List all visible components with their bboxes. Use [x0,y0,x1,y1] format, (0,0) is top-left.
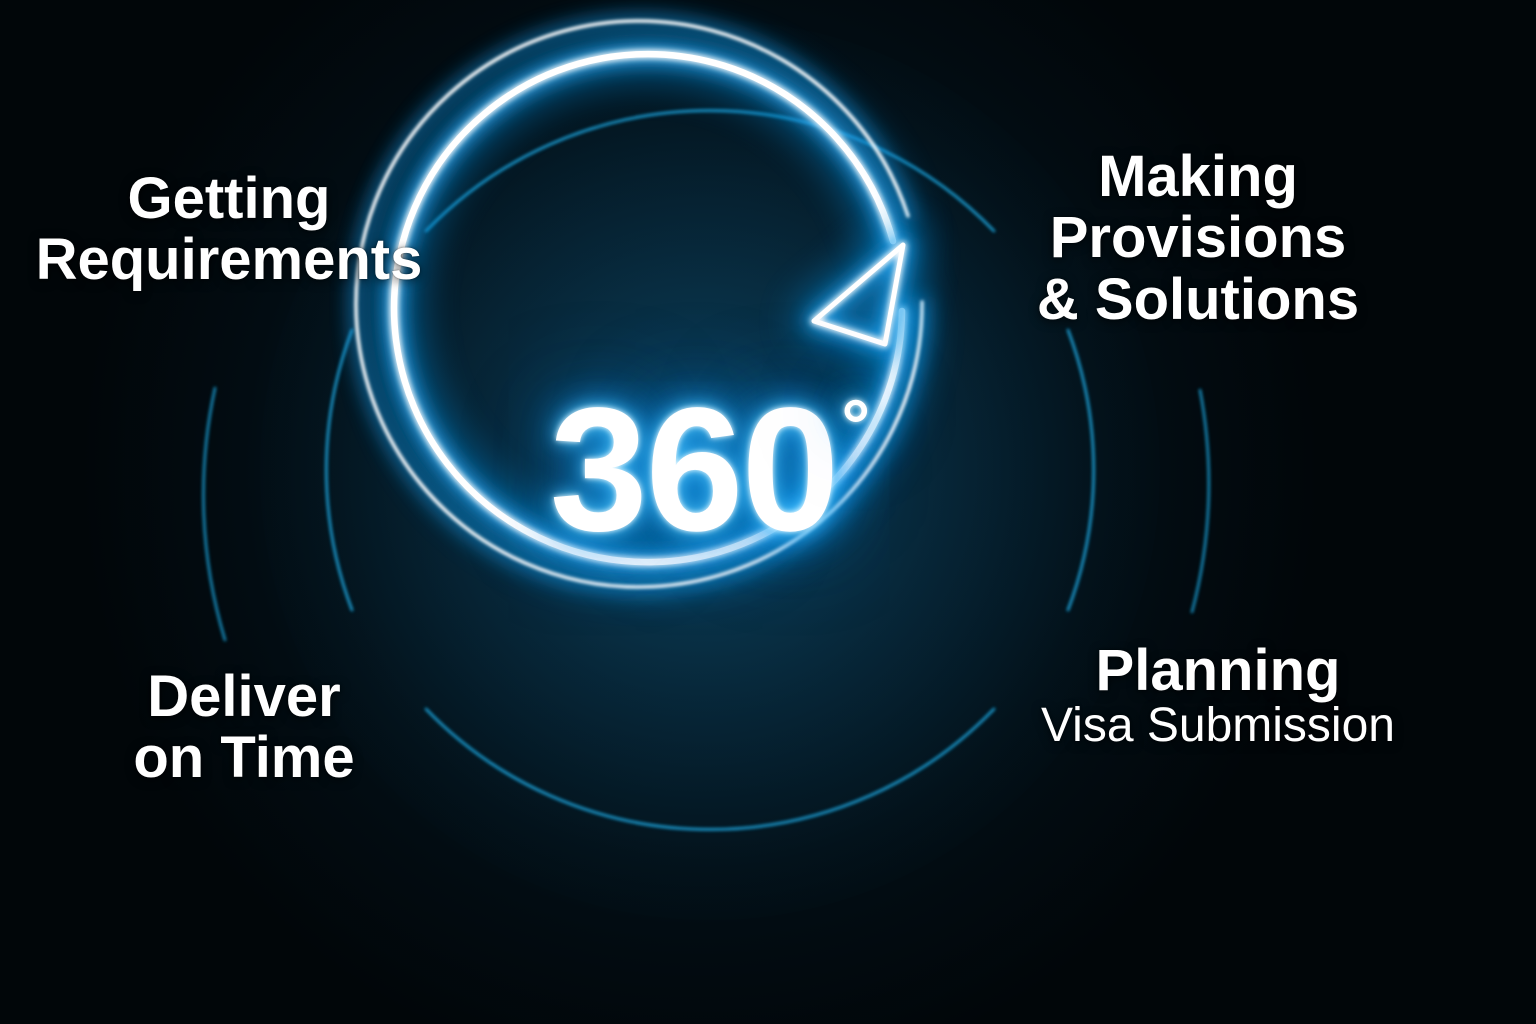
center-number: 360 [550,382,838,558]
outer-arc-left [326,330,352,610]
label-deliver-on-time: Deliver on Time [104,666,384,789]
mid-arc-left [203,388,225,640]
label-getting-requirements: Getting Requirements [14,168,444,291]
label-making-line2: Provisions [1008,207,1388,268]
label-making-line3: & Solutions [1008,269,1388,330]
outer-arc-right [1068,330,1094,610]
degree-symbol: ° [841,390,870,462]
label-getting-requirements-line2: Requirements [14,229,444,290]
label-making-provisions-solutions: Making Provisions & Solutions [1008,146,1388,330]
label-planning-visa-submission: Planning Visa Submission [1018,640,1418,752]
infographic-canvas: 360 ° Getting Requirements Making Provis… [0,0,1536,1024]
outer-arc-bottom [426,709,994,829]
label-planning-line1: Planning [1018,640,1418,701]
mid-arc-right [1192,390,1209,612]
label-making-line1: Making [1008,146,1388,207]
rotation-arrow-icon [814,245,903,344]
label-deliver-line1: Deliver [104,666,384,727]
label-planning-line2: Visa Submission [1018,701,1418,752]
center-360-degrees: 360 ° [550,382,870,558]
label-getting-requirements-line1: Getting [14,168,444,229]
label-deliver-line2: on Time [104,727,384,788]
